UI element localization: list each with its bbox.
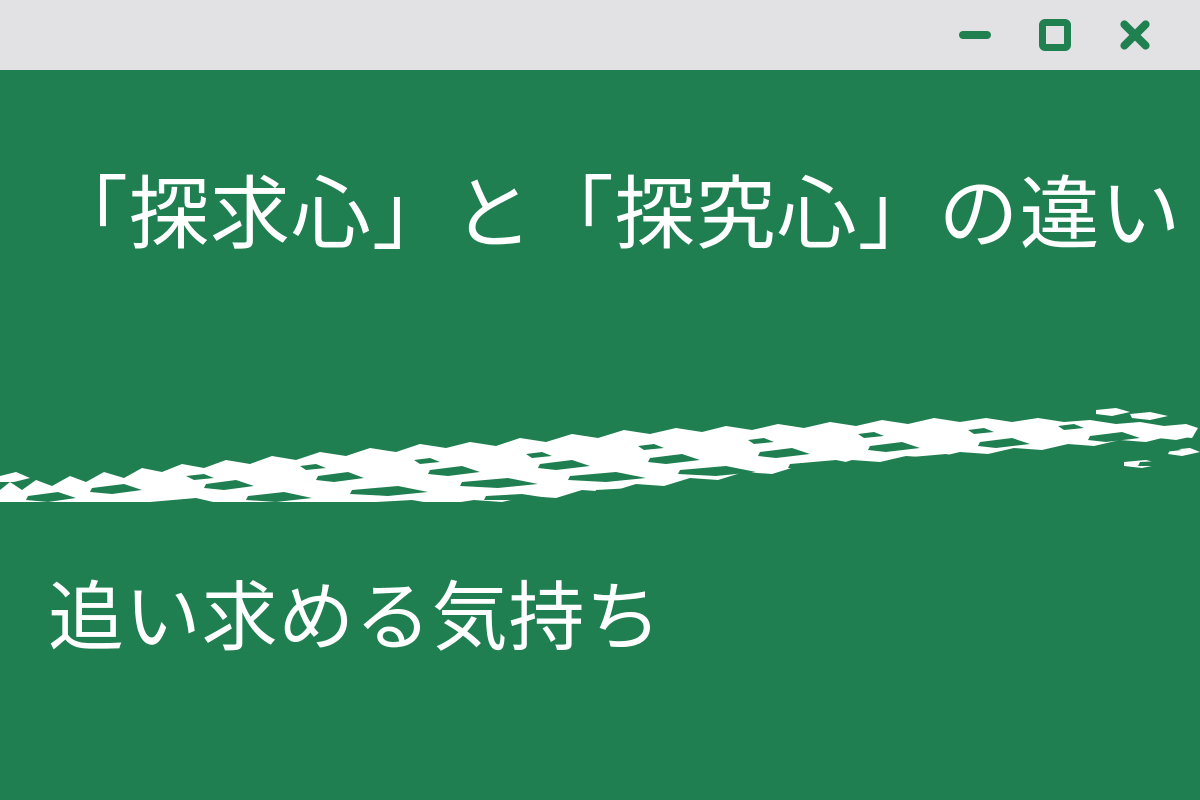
page-subtitle: 追い求める気持ち bbox=[48, 580, 662, 660]
title-bar bbox=[0, 0, 1200, 72]
page-title: 「探求心」と「探究心」の違い bbox=[48, 176, 1158, 258]
maximize-icon bbox=[1039, 19, 1071, 51]
close-icon bbox=[1118, 18, 1152, 52]
close-button[interactable] bbox=[1116, 16, 1154, 54]
brush-stroke-divider bbox=[0, 372, 1200, 502]
app-window: 「探求心」と「探究心」の違い bbox=[0, 0, 1200, 800]
maximize-button[interactable] bbox=[1036, 16, 1074, 54]
window-controls bbox=[956, 16, 1154, 54]
minimize-button[interactable] bbox=[956, 16, 994, 54]
title-card: 「探求心」と「探究心」の違い bbox=[0, 72, 1200, 800]
minimize-icon bbox=[959, 31, 991, 39]
